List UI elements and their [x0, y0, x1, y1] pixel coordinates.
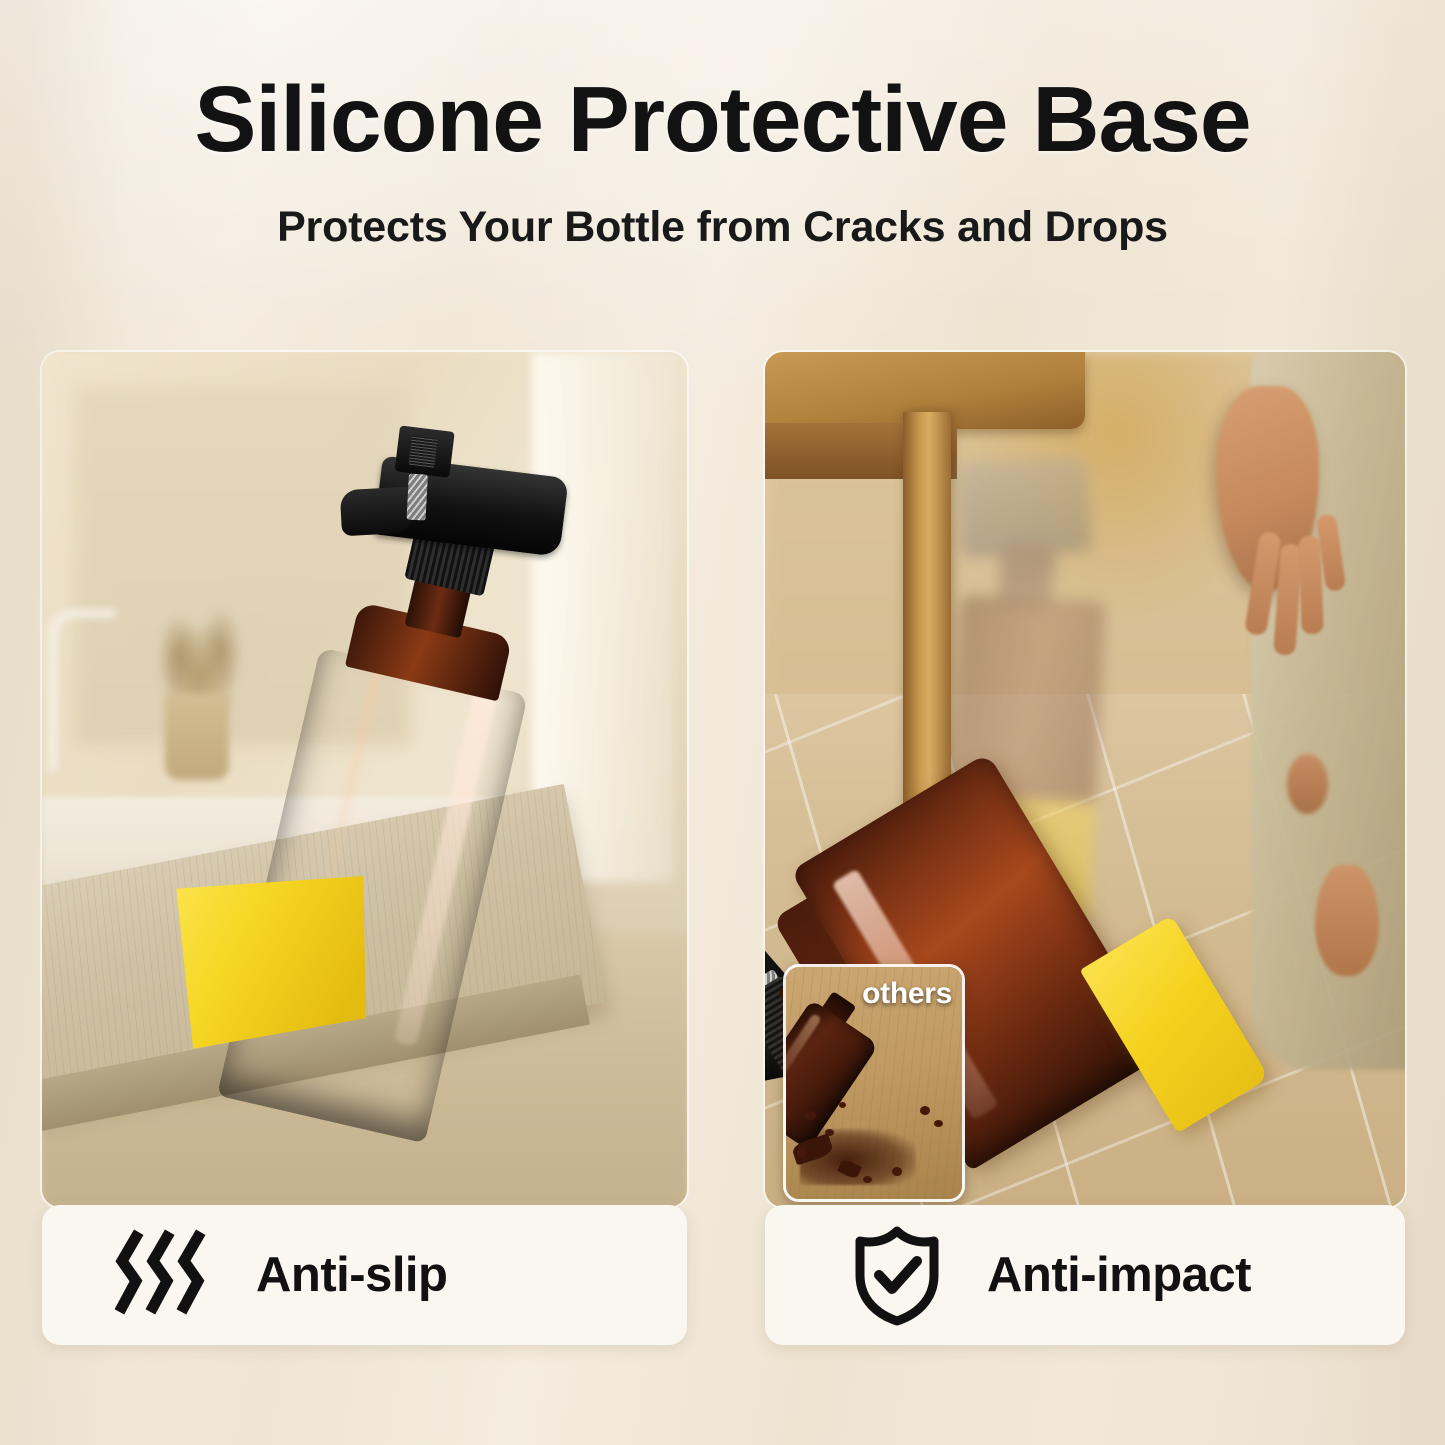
page-subtitle: Protects Your Bottle from Cracks and Dro…	[0, 167, 1445, 252]
bare-foot-back	[1287, 754, 1329, 814]
liquid-droplet	[825, 1129, 834, 1136]
feature-panel-anti-slip: Anti-slip	[42, 1205, 687, 1345]
silicone-base-shape	[147, 841, 393, 1080]
feature-label-anti-slip: Anti-slip	[256, 1247, 447, 1303]
header: Silicone Protective Base Protects Your B…	[0, 0, 1445, 252]
liquid-droplet	[863, 1176, 872, 1183]
zigzag-wave-icon	[102, 1223, 222, 1327]
shield-check-icon	[837, 1223, 957, 1327]
others-comparison-inset: others	[783, 964, 965, 1202]
feature-label-anti-impact: Anti-impact	[987, 1247, 1251, 1303]
silicone-base-left	[42, 352, 687, 1207]
tile-room-photo: others	[765, 352, 1405, 1207]
liquid-droplet	[892, 1167, 903, 1176]
photo-card-anti-slip	[42, 352, 687, 1207]
kitchen-scene-photo	[42, 352, 687, 1207]
bare-foot-front	[1315, 865, 1379, 976]
page-title: Silicone Protective Base	[0, 0, 1445, 167]
feature-panel-anti-impact: Anti-impact	[765, 1205, 1405, 1345]
photo-card-anti-impact: others	[765, 352, 1405, 1207]
liquid-droplet	[839, 1102, 846, 1108]
liquid-droplet	[934, 1120, 943, 1127]
others-label: others	[862, 977, 952, 1011]
product-infographic-page: Silicone Protective Base Protects Your B…	[0, 0, 1445, 1445]
liquid-droplet	[804, 1111, 816, 1120]
